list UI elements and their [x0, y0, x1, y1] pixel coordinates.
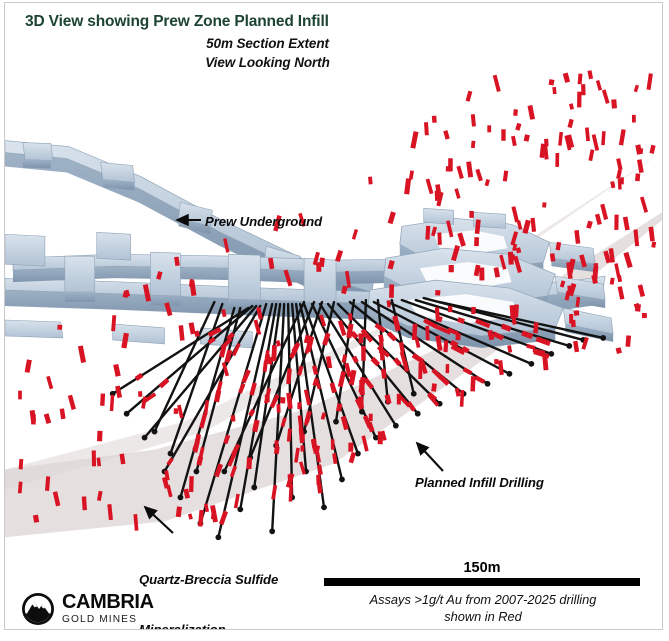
logo-company-name: CAMBRIA	[62, 592, 154, 612]
scale-bar: 150m	[324, 560, 640, 586]
assay-legend-caption: Assays >1g/t Au from 2007-2025 drilling …	[323, 591, 643, 626]
figure-root: 3D View showing Prew Zone Planned Infill…	[0, 0, 669, 641]
mountain-circle-icon	[21, 592, 55, 626]
company-logo: CAMBRIA GOLD MINES	[21, 592, 154, 626]
assay-caption-line2: shown in Red	[323, 608, 643, 625]
three-d-scene	[5, 3, 662, 629]
annotation-prew-underground: Prew Underground	[205, 214, 322, 231]
scale-bar-line	[324, 578, 640, 586]
scale-bar-label: 150m	[324, 560, 640, 576]
annotation-quartz-breccia-line1: Quartz-Breccia Sulfide	[139, 572, 278, 589]
logo-wordmark: CAMBRIA GOLD MINES	[62, 592, 154, 625]
logo-tagline: GOLD MINES	[62, 615, 154, 625]
annotation-planned-infill-drilling: Planned Infill Drilling	[415, 475, 544, 492]
figure-canvas: 3D View showing Prew Zone Planned Infill…	[4, 2, 663, 630]
assay-caption-line1: Assays >1g/t Au from 2007-2025 drilling	[323, 591, 643, 608]
annotation-quartz-breccia-line2: Mineralization	[139, 622, 278, 630]
annotation-quartz-breccia: Quartz-Breccia Sulfide Mineralization	[139, 538, 278, 630]
